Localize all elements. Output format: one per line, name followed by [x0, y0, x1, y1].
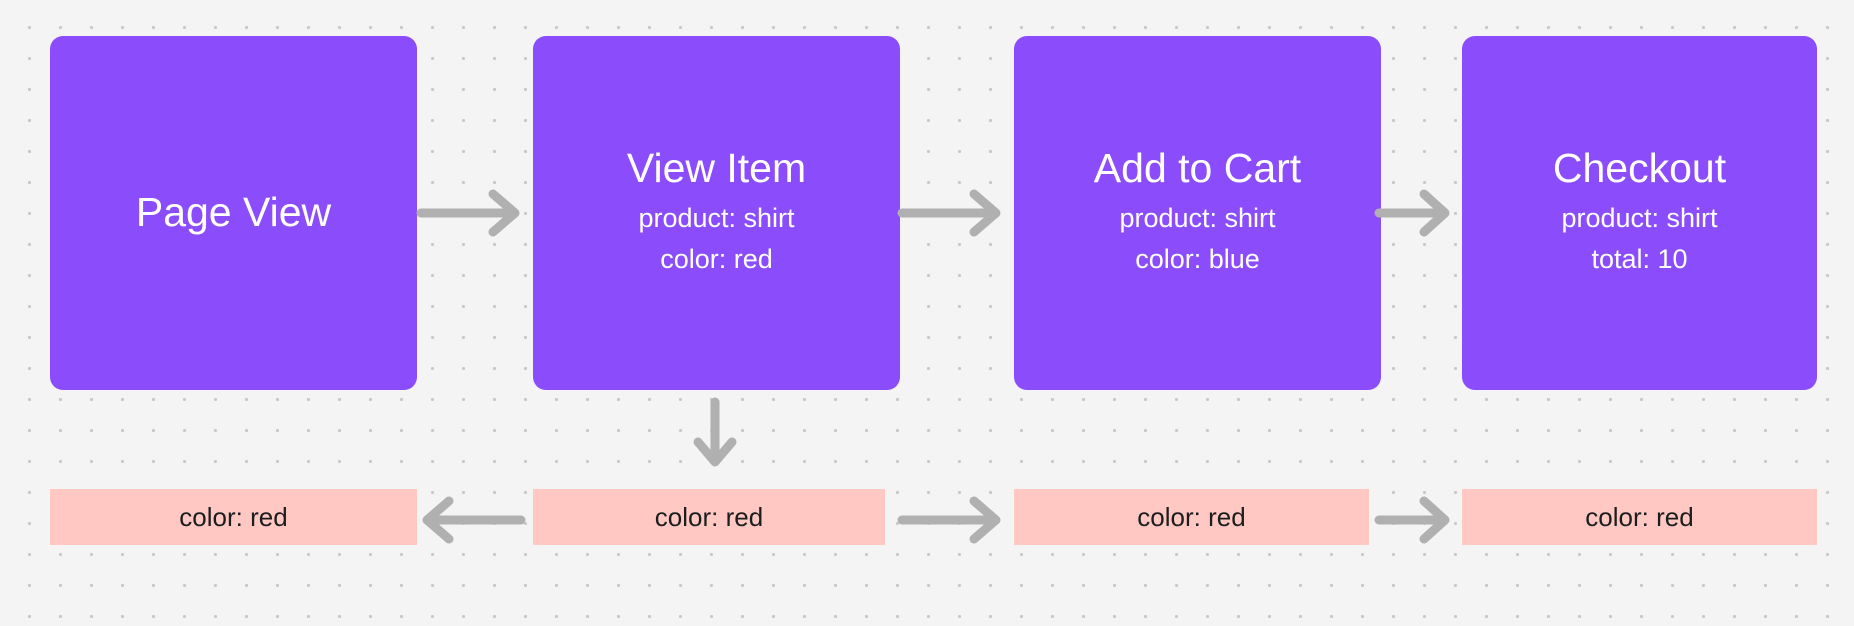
arrow-right-icon-property-node-1-to-property-node-2	[898, 497, 1006, 543]
event-node-properties: product: shirt total: 10	[1561, 198, 1717, 280]
property-node-1[interactable]: color: red	[533, 489, 885, 545]
event-node-property: product: shirt	[638, 198, 794, 239]
event-node-properties: product: shirt color: blue	[1119, 198, 1275, 280]
arrow-down-icon-view-item-to-property-node	[692, 398, 738, 470]
event-node-property: color: red	[660, 239, 773, 280]
property-node-3[interactable]: color: red	[1462, 489, 1817, 545]
event-node-property: product: shirt	[1561, 198, 1717, 239]
event-node-property: product: shirt	[1119, 198, 1275, 239]
arrow-right-icon-page-view-to-view-item	[417, 190, 525, 236]
property-node-label: color: red	[655, 504, 763, 530]
arrow-right-icon-property-node-2-to-property-node-3	[1375, 497, 1455, 543]
event-node-add-to-cart[interactable]: Add to Cart product: shirt color: blue	[1014, 36, 1381, 390]
event-node-title: View Item	[627, 146, 806, 192]
arrow-right-icon-view-item-to-add-to-cart	[898, 190, 1006, 236]
property-node-2[interactable]: color: red	[1014, 489, 1369, 545]
event-node-view-item[interactable]: View Item product: shirt color: red	[533, 36, 900, 390]
property-node-0[interactable]: color: red	[50, 489, 417, 545]
diagram-canvas: Page View View Item product: shirt color…	[0, 0, 1854, 626]
property-node-label: color: red	[1137, 504, 1245, 530]
property-node-label: color: red	[179, 504, 287, 530]
event-node-title: Page View	[136, 190, 331, 236]
event-node-checkout[interactable]: Checkout product: shirt total: 10	[1462, 36, 1817, 390]
event-node-page-view[interactable]: Page View	[50, 36, 417, 390]
event-node-title: Add to Cart	[1094, 146, 1301, 192]
arrow-left-icon-property-node-1-to-property-node-0	[417, 497, 525, 543]
property-node-label: color: red	[1585, 504, 1693, 530]
arrow-right-icon-add-to-cart-to-checkout	[1375, 190, 1455, 236]
event-node-properties: product: shirt color: red	[638, 198, 794, 280]
event-node-property: total: 10	[1591, 239, 1687, 280]
event-node-property: color: blue	[1135, 239, 1260, 280]
event-node-title: Checkout	[1553, 146, 1726, 192]
